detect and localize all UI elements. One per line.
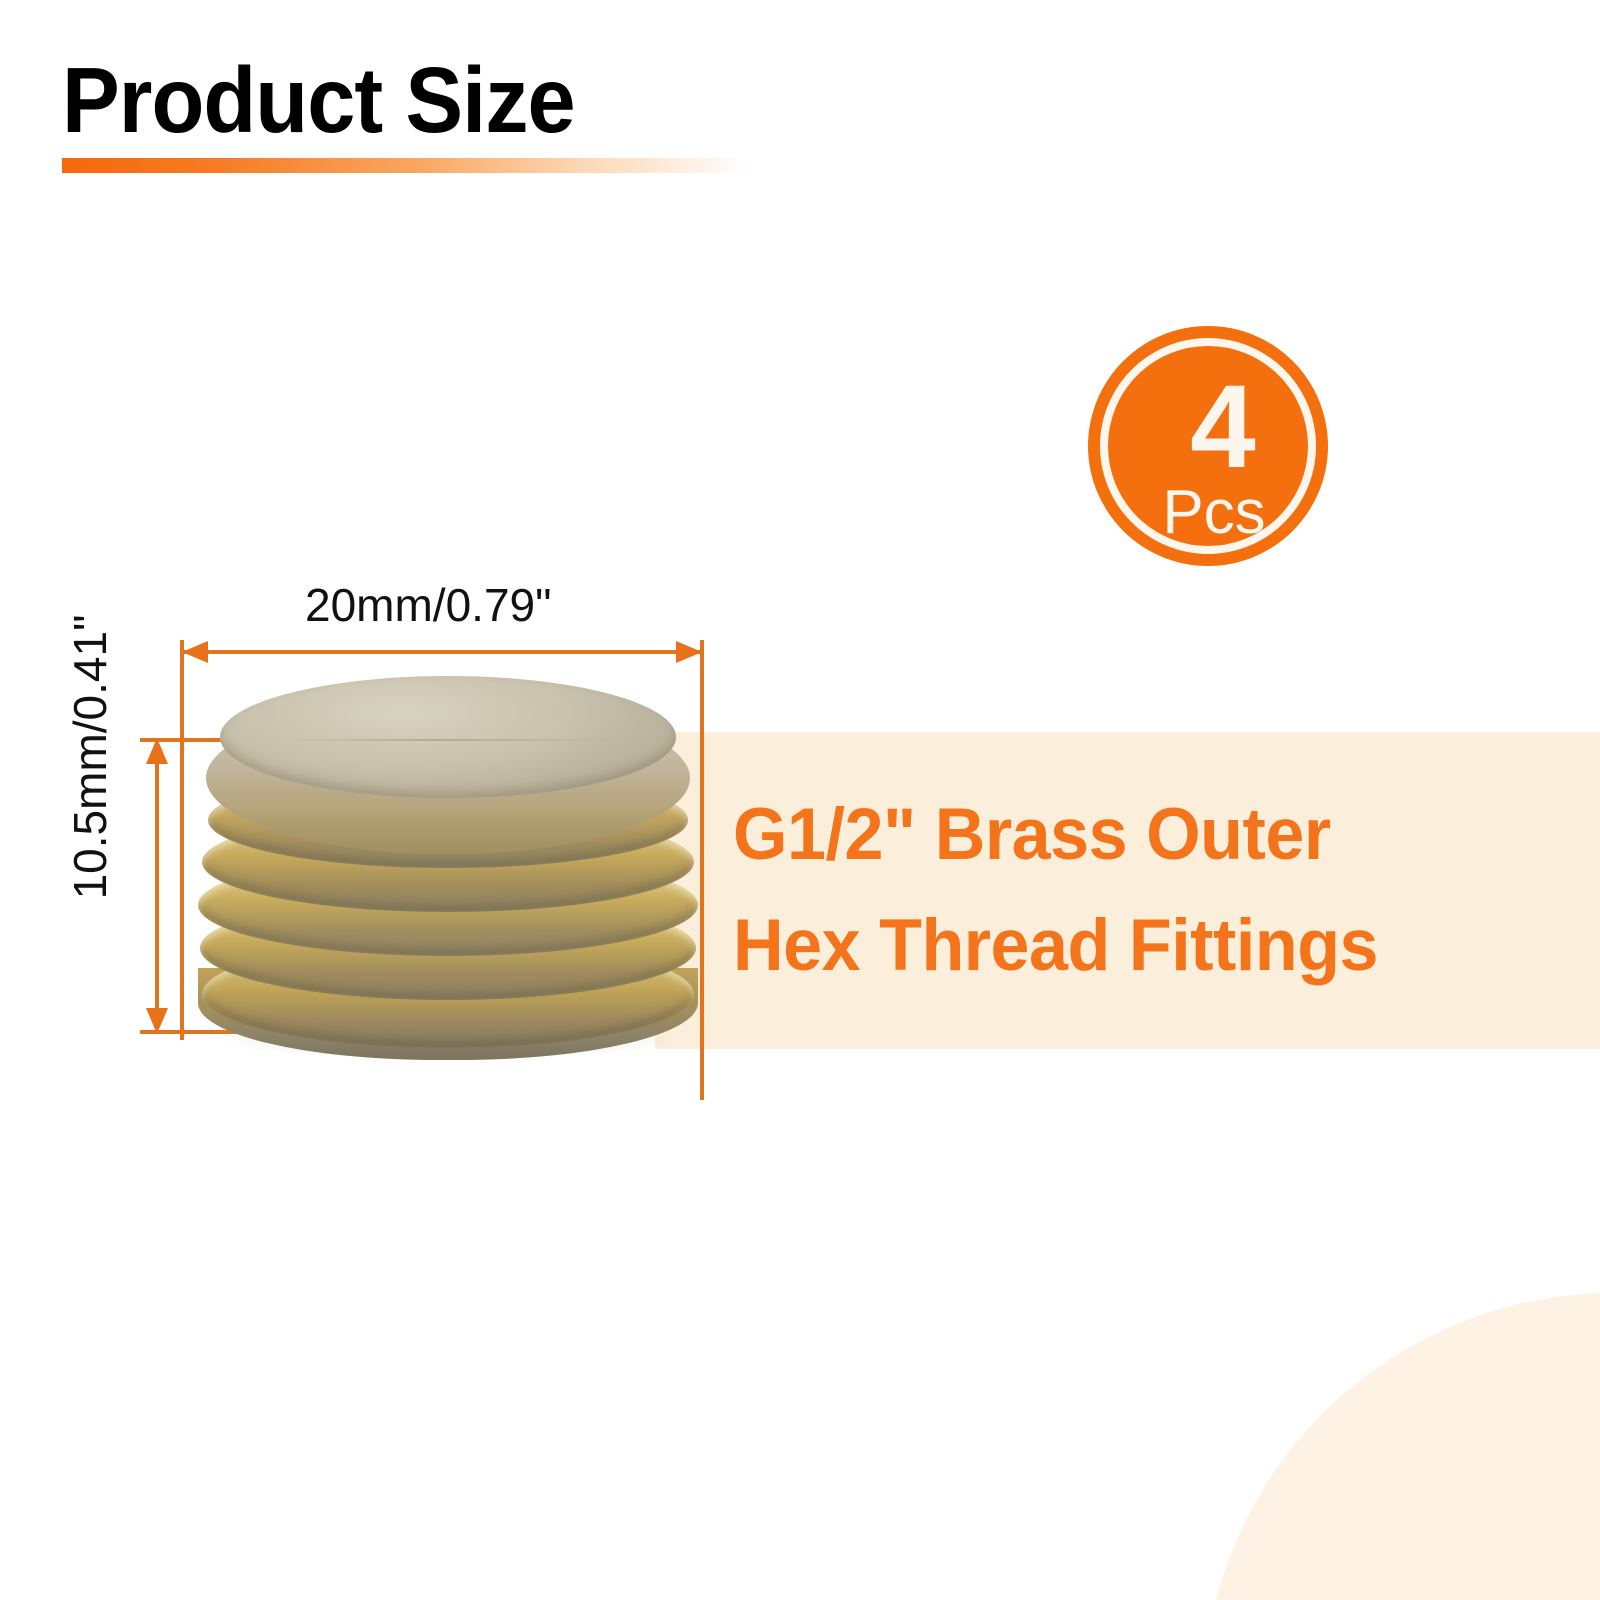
product-description: G1/2" Brass Outer Hex Thread Fittings <box>733 780 1568 1002</box>
page-title: Product Size <box>62 52 575 150</box>
decorative-corner-circle <box>1203 1293 1600 1600</box>
description-line-1: G1/2" Brass Outer <box>733 780 1568 891</box>
product-image-brass-hex-plug <box>184 668 712 1058</box>
description-line-2: Hex Thread Fittings <box>733 891 1568 1002</box>
arrow-left-icon <box>182 641 208 663</box>
product-top-face <box>220 676 676 798</box>
width-dimension-label: 20mm/0.79" <box>305 578 551 632</box>
height-dimension-label: 10.5mm/0.41" <box>63 607 117 907</box>
arrow-right-icon <box>676 641 702 663</box>
arrow-up-icon <box>146 738 168 764</box>
title-underline-gradient <box>62 158 752 173</box>
product-body <box>184 668 712 1058</box>
arrow-down-icon <box>146 1008 168 1034</box>
badge-unit-label: Pcs <box>1088 482 1328 544</box>
infographic-canvas: Product Size <box>0 0 1600 1600</box>
badge-quantity-value: 4 <box>1088 368 1328 486</box>
quantity-badge: 4 Pcs <box>1088 326 1328 566</box>
